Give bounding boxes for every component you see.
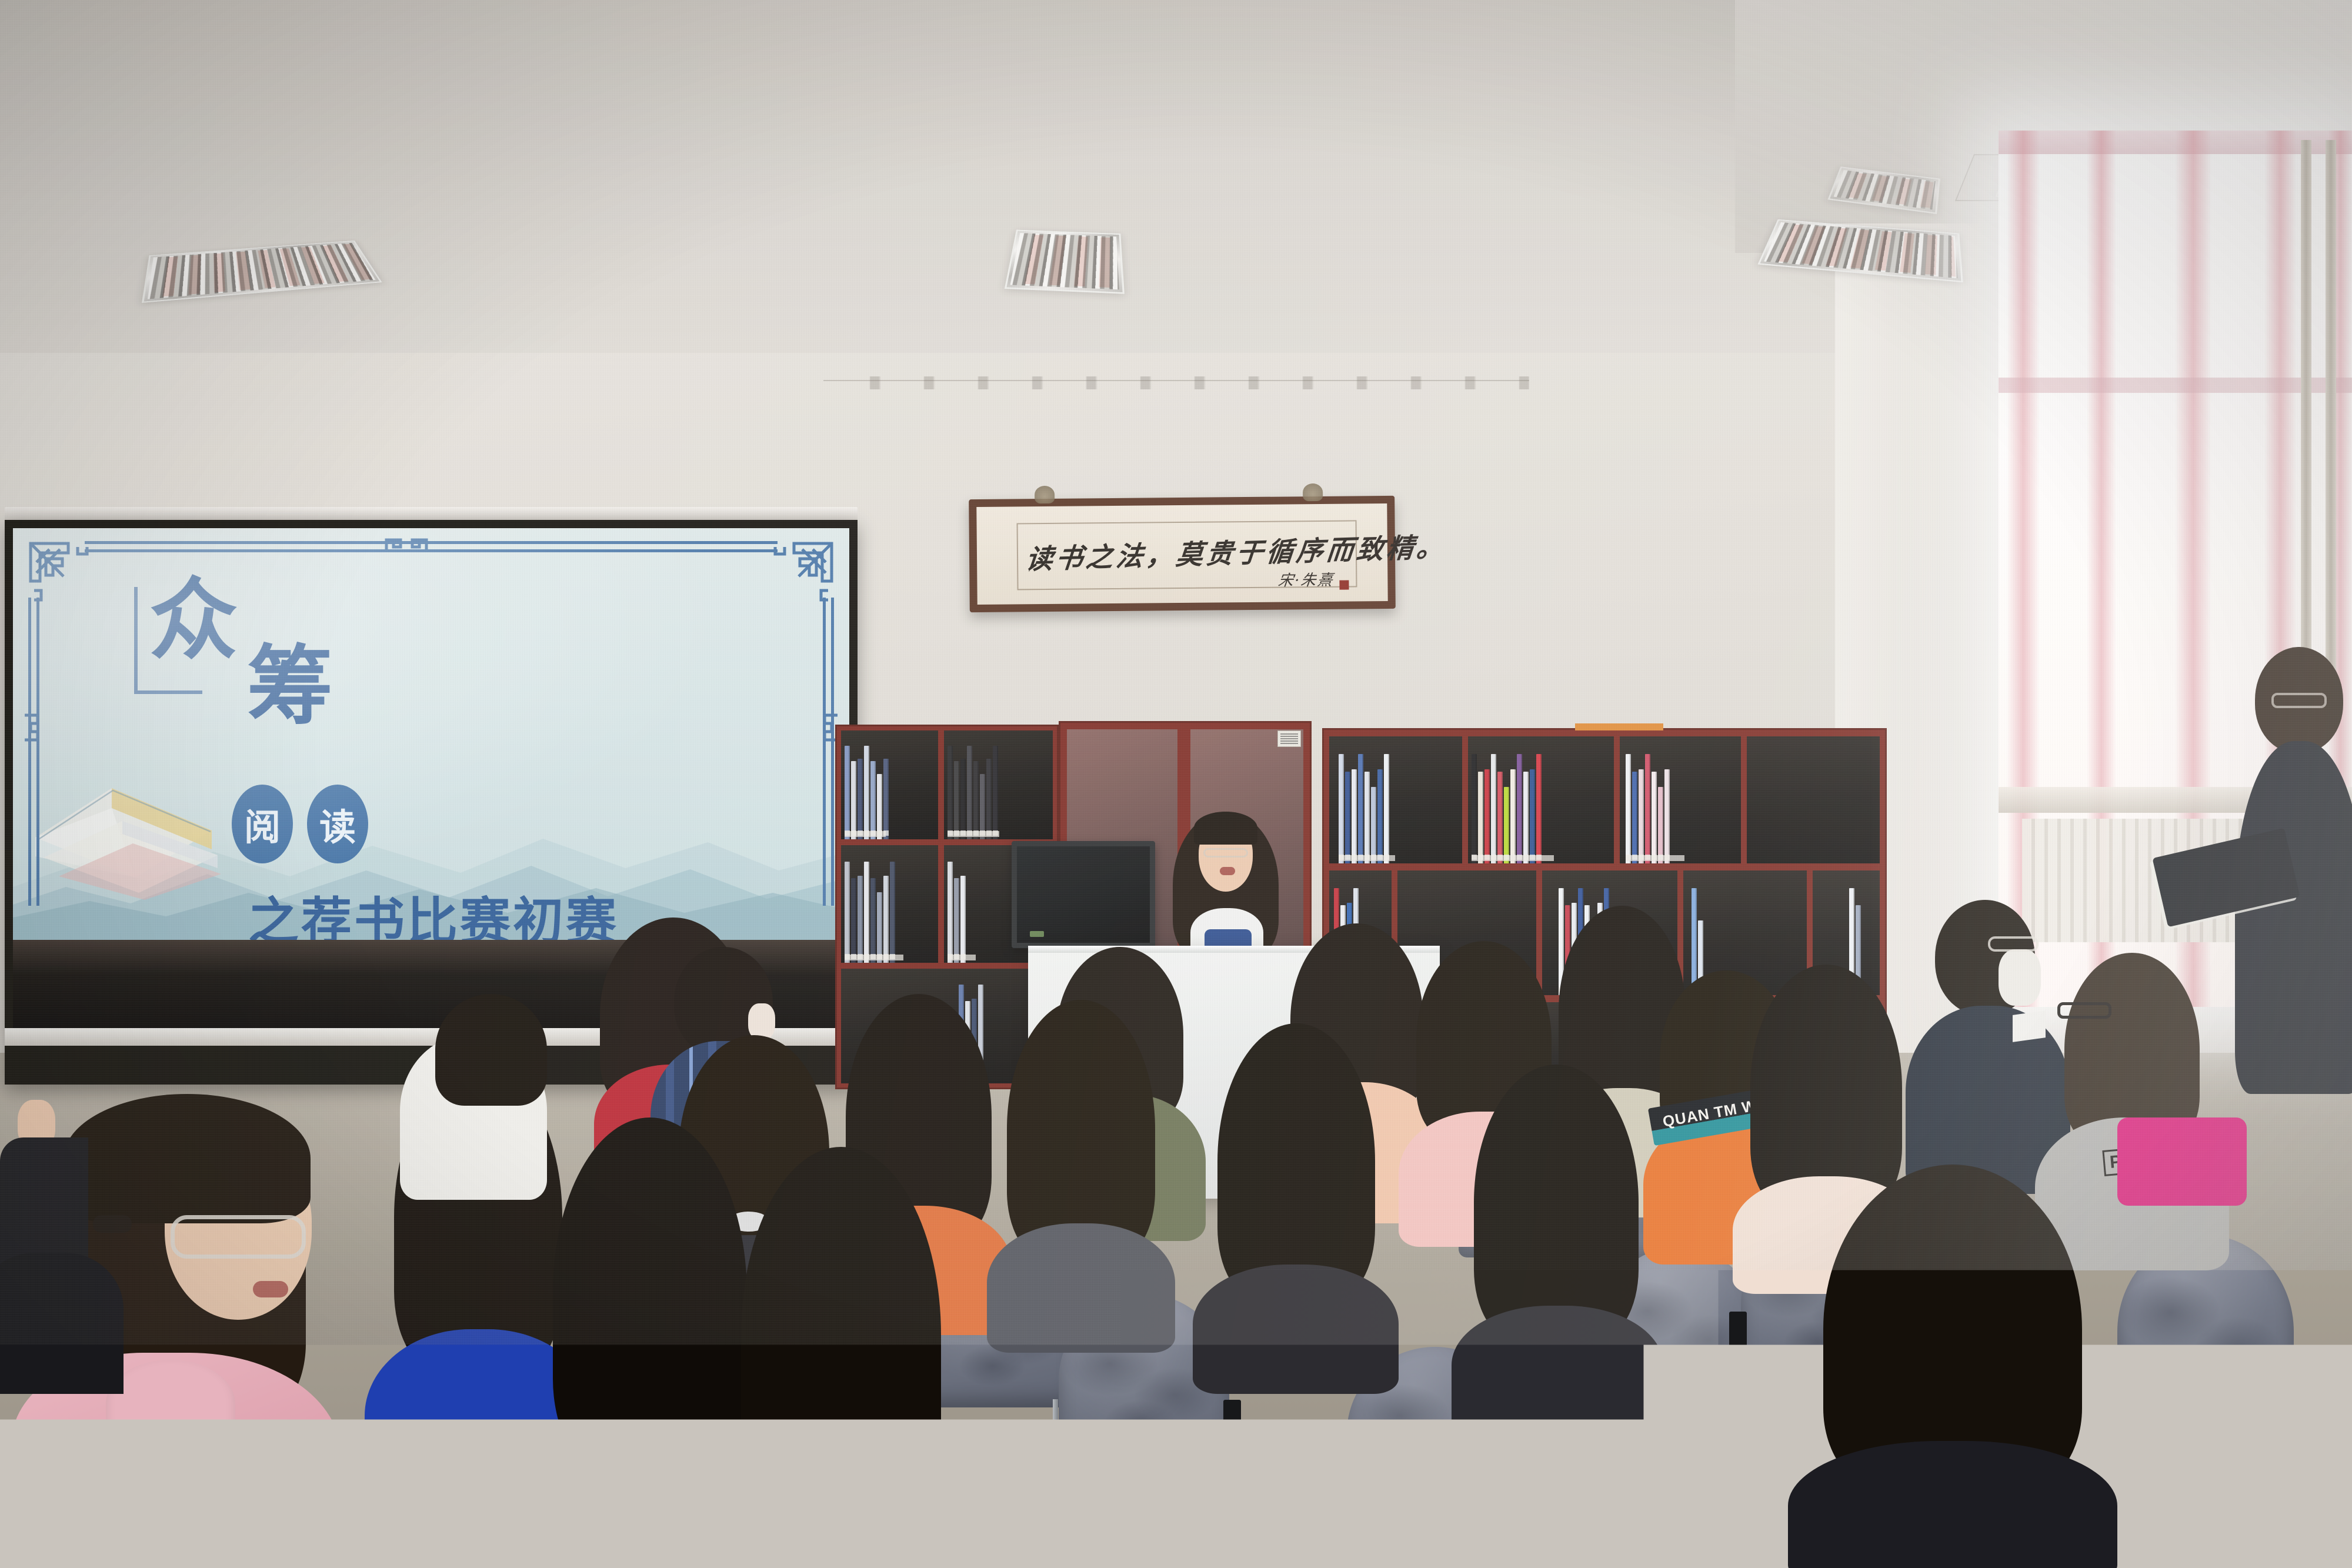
glasses bbox=[1988, 936, 2039, 952]
photo-scene: 众 筹 阅 读 之荐书比赛初赛 读书之法，莫贵于循序而致精。 宋·朱熹 bbox=[0, 0, 2352, 1568]
audience-member bbox=[994, 1000, 1165, 1317]
audience-member-white-hoodie bbox=[400, 1000, 547, 1188]
calligraphy-wall-frame: 读书之法，莫贵于循序而致精。 宋·朱熹 bbox=[969, 496, 1396, 612]
mask bbox=[1999, 949, 2041, 1006]
glasses bbox=[171, 1215, 306, 1259]
jacket-collar bbox=[106, 1360, 235, 1448]
calligraphy-seal bbox=[1339, 581, 1349, 590]
slide-headline-char-2: 筹 bbox=[247, 643, 333, 729]
bookshelf-cell bbox=[1620, 736, 1741, 863]
shelf-top-marker bbox=[1575, 723, 1663, 730]
bookshelf-cell bbox=[841, 730, 938, 839]
audience-member bbox=[1459, 1065, 1653, 1394]
shelf-label-tag bbox=[1277, 730, 1301, 747]
mouth bbox=[253, 1281, 288, 1297]
window-mullion bbox=[1999, 378, 2352, 393]
slide-subtitle: 之荐书比赛初赛 bbox=[248, 880, 619, 940]
glasses bbox=[2271, 693, 2327, 708]
shirt-collar bbox=[2013, 1010, 2046, 1042]
slide-headline-char-1: 众 bbox=[149, 576, 235, 665]
border-knot-ornament bbox=[383, 535, 430, 553]
backpack bbox=[2117, 1117, 2247, 1206]
frame-hanger-ornament bbox=[1035, 486, 1055, 503]
speaker-presenter bbox=[1173, 803, 1279, 956]
standing-person-with-clipboard bbox=[2229, 647, 2352, 1094]
wall-pipe bbox=[2326, 140, 2336, 716]
frame-mat: 读书之法，莫贵于循序而致精。 宋·朱熹 bbox=[976, 503, 1387, 605]
bookshelf-cell bbox=[1468, 736, 1614, 863]
ceiling-light-fixture bbox=[1005, 230, 1125, 294]
desktop-monitor bbox=[1012, 841, 1155, 948]
audience-member-foreground bbox=[706, 1147, 965, 1568]
glasses bbox=[2057, 1002, 2111, 1019]
bookshelf-cell bbox=[1329, 736, 1462, 863]
speaker-glasses bbox=[1203, 848, 1248, 858]
border-side-ornament bbox=[21, 712, 41, 743]
speaker-mouth bbox=[1220, 867, 1235, 875]
border-corner-ornament bbox=[760, 539, 836, 615]
bookshelf-cell bbox=[1747, 736, 1880, 863]
wall-pipe bbox=[2301, 140, 2311, 716]
slide-pill-read-2: 读 bbox=[307, 785, 368, 863]
calligraphy-signature: 宋·朱熹 bbox=[1277, 568, 1335, 590]
presentation-slide: 众 筹 阅 读 之荐书比赛初赛 bbox=[13, 528, 849, 940]
monitor-power-led bbox=[1030, 931, 1044, 937]
mask bbox=[748, 1003, 775, 1040]
audience-member-masked bbox=[1911, 900, 2059, 1182]
slide-pill-read-1: 阅 bbox=[232, 785, 293, 863]
stacked-books-illustration bbox=[24, 767, 235, 902]
frame-hanger-ornament bbox=[1303, 483, 1323, 501]
audience-member-raised-arm bbox=[0, 1100, 124, 1382]
torso bbox=[0, 1253, 124, 1394]
wall-scuff-marks bbox=[853, 376, 1529, 389]
auditorium-chair[interactable] bbox=[2117, 1235, 2294, 1482]
audience-member-foreground bbox=[1800, 1165, 2106, 1568]
audience-member bbox=[1200, 1023, 1388, 1353]
bookshelf-cell bbox=[944, 730, 1053, 839]
bookshelf-cell bbox=[841, 845, 938, 963]
border-corner-ornament bbox=[26, 539, 102, 615]
